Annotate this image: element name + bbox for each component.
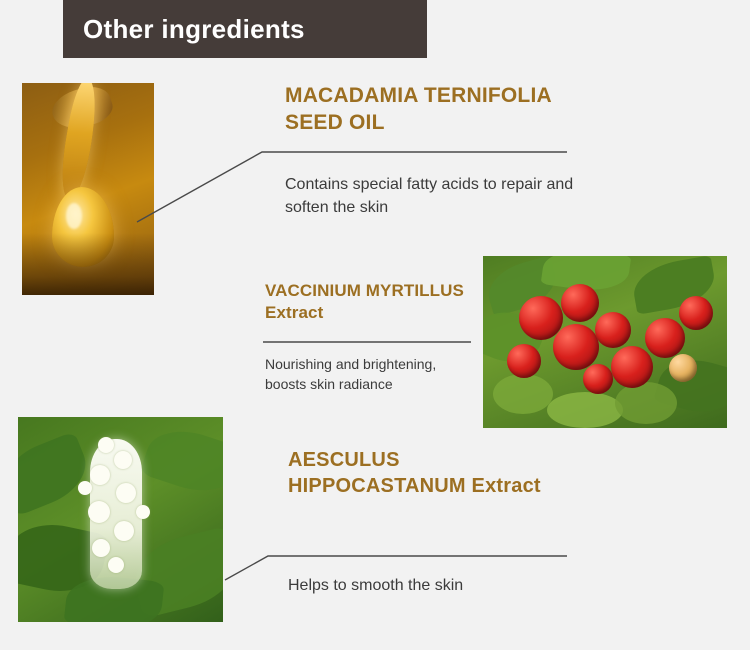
ingredient-description-aesculus: Helps to smooth the skin bbox=[288, 574, 588, 597]
leaf-shape bbox=[140, 420, 223, 502]
floret-shape bbox=[114, 451, 132, 469]
ingredient-title-vaccinium: VACCINIUM MYRTILLUS Extract bbox=[265, 280, 480, 324]
berry-shape bbox=[645, 318, 685, 358]
moss-shape bbox=[615, 382, 677, 424]
floret-shape bbox=[108, 557, 124, 573]
ingredient-description-vaccinium: Nourishing and brightening, boosts skin … bbox=[265, 354, 480, 395]
berry-shape bbox=[507, 344, 541, 378]
floret-shape bbox=[92, 539, 110, 557]
leaf-shape bbox=[18, 431, 96, 517]
moss-shape bbox=[547, 392, 623, 428]
ingredient-title-aesculus: AESCULUS HIPPOCASTANUM Extract bbox=[288, 448, 558, 499]
floret-shape bbox=[78, 481, 92, 495]
ingredient-description-macadamia: Contains special fatty acids to repair a… bbox=[285, 173, 585, 219]
floret-shape bbox=[114, 521, 134, 541]
berry-shape bbox=[561, 284, 599, 322]
oil-drop-image bbox=[22, 83, 154, 295]
floret-shape bbox=[90, 465, 110, 485]
floret-shape bbox=[98, 437, 114, 453]
berry-shape bbox=[553, 324, 599, 370]
berry-shape bbox=[595, 312, 631, 348]
oil-shadow-overlay bbox=[22, 233, 154, 295]
berry-shape bbox=[611, 346, 653, 388]
floret-shape bbox=[136, 505, 150, 519]
horse-chestnut-image bbox=[18, 417, 223, 622]
berry-shape bbox=[679, 296, 713, 330]
page-title: Other ingredients bbox=[63, 14, 305, 45]
oil-highlight-shape bbox=[66, 203, 82, 229]
ingredients-infographic: Other ingredients bbox=[0, 0, 750, 650]
lingonberry-image bbox=[483, 256, 727, 428]
ingredient-title-macadamia: MACADAMIA TERNIFOLIA SEED OIL bbox=[285, 83, 605, 137]
floret-shape bbox=[116, 483, 136, 503]
floret-shape bbox=[88, 501, 110, 523]
moss-shape bbox=[493, 374, 553, 414]
header-bar: Other ingredients bbox=[63, 0, 427, 58]
berry-shape bbox=[669, 354, 697, 382]
berry-shape bbox=[583, 364, 613, 394]
